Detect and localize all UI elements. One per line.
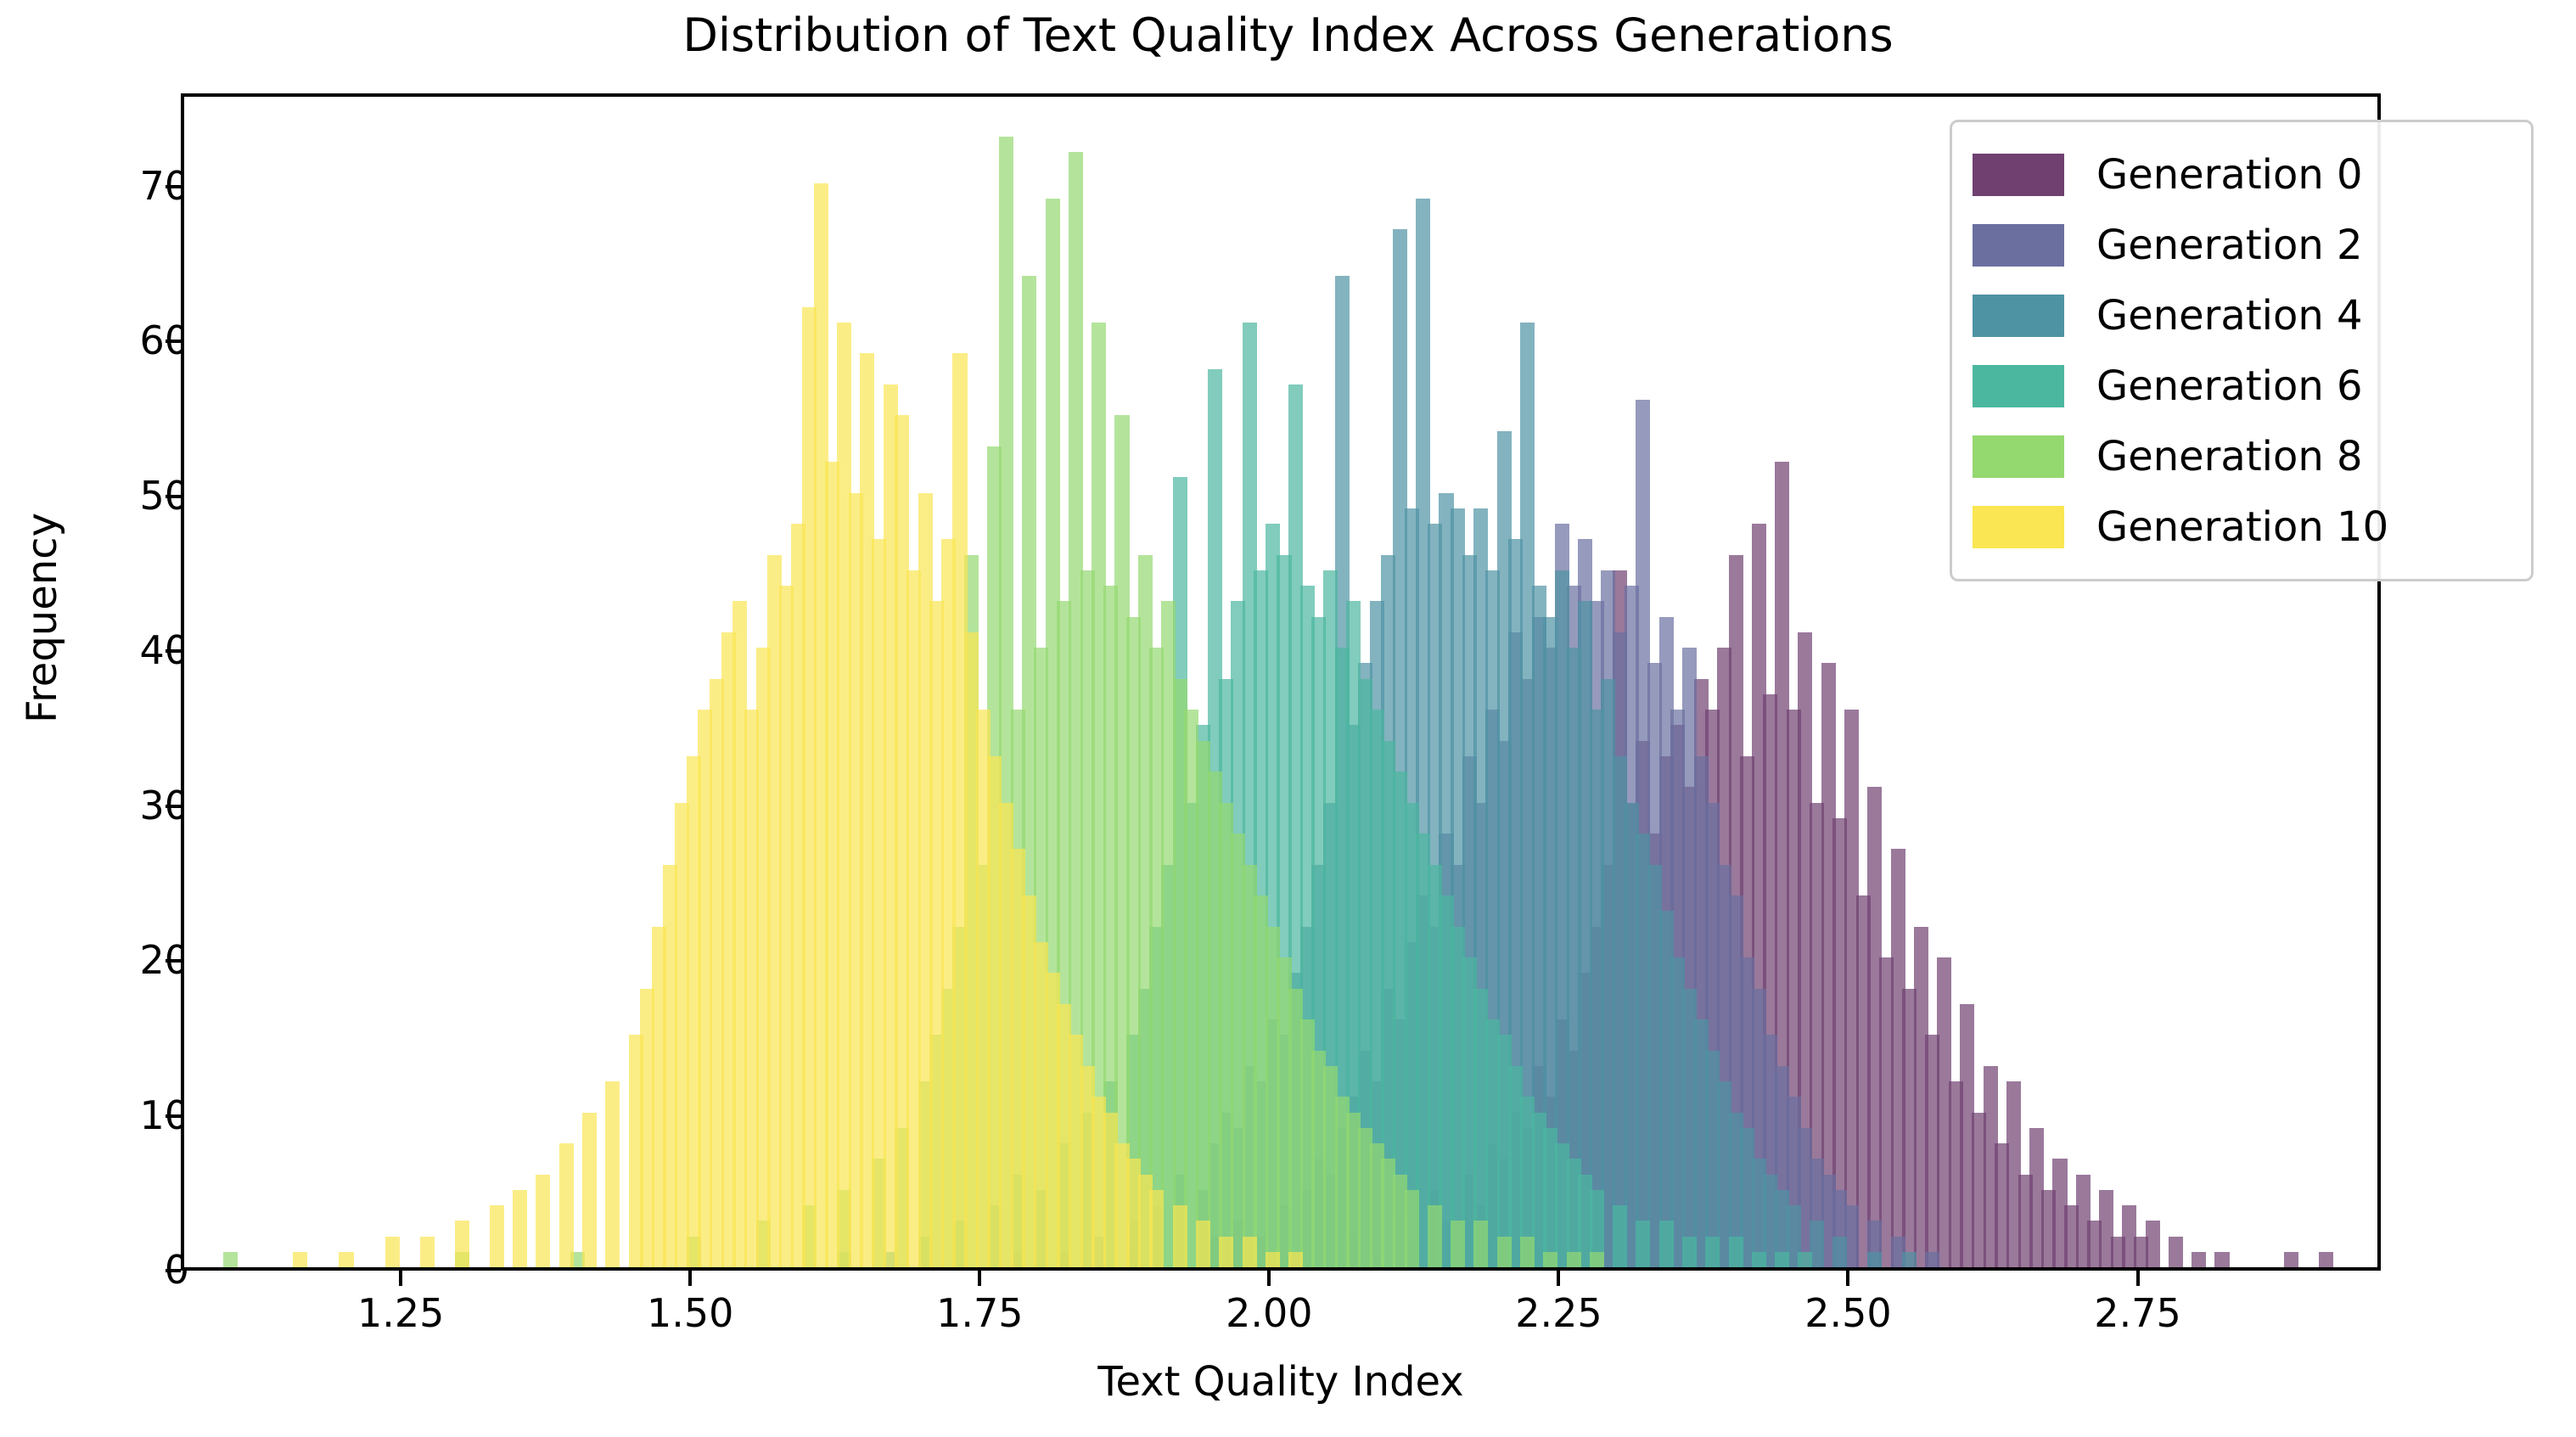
legend-item[interactable]: Generation 2 (1973, 210, 2511, 280)
histogram-bar (1266, 1252, 1280, 1267)
histogram-bar (2146, 1221, 2160, 1267)
histogram-bar (1243, 1237, 1257, 1268)
histogram-bar (513, 1190, 527, 1267)
histogram-bar (1613, 1205, 1627, 1267)
x-tick-mark (2136, 1271, 2140, 1286)
x-tick-mark (688, 1271, 692, 1286)
page-title: Distribution of Text Quality Index Acros… (0, 10, 2576, 60)
histogram-bar (2214, 1252, 2229, 1267)
x-tick-label: 1.25 (324, 1294, 477, 1333)
histogram-bar (2192, 1252, 2206, 1267)
legend: Generation 0Generation 2Generation 4Gene… (1950, 120, 2534, 581)
legend-item-label: Generation 4 (2096, 295, 2363, 336)
x-tick-label: 1.50 (614, 1294, 766, 1333)
histogram-bar (1925, 1252, 1939, 1267)
histogram-bar (1543, 1252, 1557, 1267)
histogram-bar (1196, 1221, 1210, 1267)
legend-item[interactable]: Generation 0 (1973, 139, 2511, 210)
histogram-bar (1659, 1221, 1674, 1267)
histogram-bar (1149, 1190, 1164, 1267)
histogram-bar (385, 1237, 400, 1268)
legend-item[interactable]: Generation 6 (1973, 351, 2511, 421)
histogram-bar (2284, 1252, 2298, 1267)
histogram-bar (1832, 1237, 1847, 1268)
x-axis-label: Text Quality Index (181, 1358, 2381, 1406)
legend-item-label: Generation 2 (2096, 225, 2363, 266)
x-tick-mark (978, 1271, 981, 1286)
x-tick-label: 2.50 (1771, 1294, 1924, 1333)
histogram-bar (536, 1175, 550, 1268)
legend-color-swatch (1973, 295, 2064, 337)
histogram-bar (1288, 1252, 1303, 1267)
legend-color-swatch (1973, 224, 2064, 267)
x-tick-mark (1557, 1271, 1560, 1286)
legend-item-label: Generation 8 (2096, 436, 2363, 477)
histogram-bar (1428, 1205, 1442, 1267)
x-tick-label: 2.75 (2062, 1294, 2214, 1333)
histogram-bar (1590, 1252, 1604, 1267)
histogram-bar (2169, 1237, 2183, 1268)
legend-item[interactable]: Generation 4 (1973, 280, 2511, 351)
legend-item[interactable]: Generation 8 (1973, 421, 2511, 491)
histogram-bar (559, 1143, 574, 1267)
histogram-bar (605, 1081, 620, 1267)
histogram-bar (339, 1252, 353, 1267)
legend-item-label: Generation 6 (2096, 366, 2363, 407)
legend-item[interactable]: Generation 10 (1973, 491, 2511, 562)
legend-item-label: Generation 0 (2096, 154, 2363, 195)
legend-color-swatch (1973, 365, 2064, 407)
histogram-bar (223, 1252, 238, 1267)
histogram-bar (1752, 1252, 1766, 1267)
x-tick-mark (1846, 1271, 1849, 1286)
x-tick-label: 1.75 (903, 1294, 1056, 1333)
legend-color-swatch (1973, 506, 2064, 548)
histogram-bar (1636, 1221, 1650, 1267)
histogram-bar (293, 1252, 307, 1267)
histogram-bar (1497, 1237, 1512, 1268)
histogram-bar (1520, 1237, 1535, 1268)
x-tick-label: 2.25 (1482, 1294, 1635, 1333)
histogram-bar (1798, 1252, 1812, 1267)
histogram-bar (455, 1221, 469, 1267)
histogram-bar (582, 1113, 597, 1268)
x-tick-mark (399, 1271, 402, 1286)
legend-color-swatch (1973, 435, 2064, 478)
histogram-bar (1451, 1221, 1465, 1267)
figure-canvas: Distribution of Text Quality Index Acros… (0, 0, 2576, 1437)
histogram-bar (1729, 1237, 1743, 1268)
legend-item-label: Generation 10 (2096, 507, 2388, 547)
legend-color-swatch (1973, 154, 2064, 196)
histogram-bar (420, 1237, 435, 1268)
histogram-bar (1682, 1237, 1697, 1268)
histogram-bar (1705, 1237, 1720, 1268)
histogram-bar (1173, 1205, 1187, 1267)
x-tick-mark (1267, 1271, 1271, 1286)
histogram-bar (2319, 1252, 2333, 1267)
histogram-bar (1867, 1252, 1882, 1267)
y-axis-label: Frequency (19, 321, 66, 915)
histogram-bar (1902, 1252, 1917, 1267)
histogram-bar (1567, 1252, 1581, 1267)
histogram-bar (1775, 1252, 1789, 1267)
histogram-bar (1405, 1190, 1419, 1267)
histogram-bar (1473, 1221, 1488, 1267)
histogram-bar (1219, 1237, 1233, 1268)
x-tick-label: 2.00 (1193, 1294, 1345, 1333)
histogram-bar (490, 1205, 504, 1267)
